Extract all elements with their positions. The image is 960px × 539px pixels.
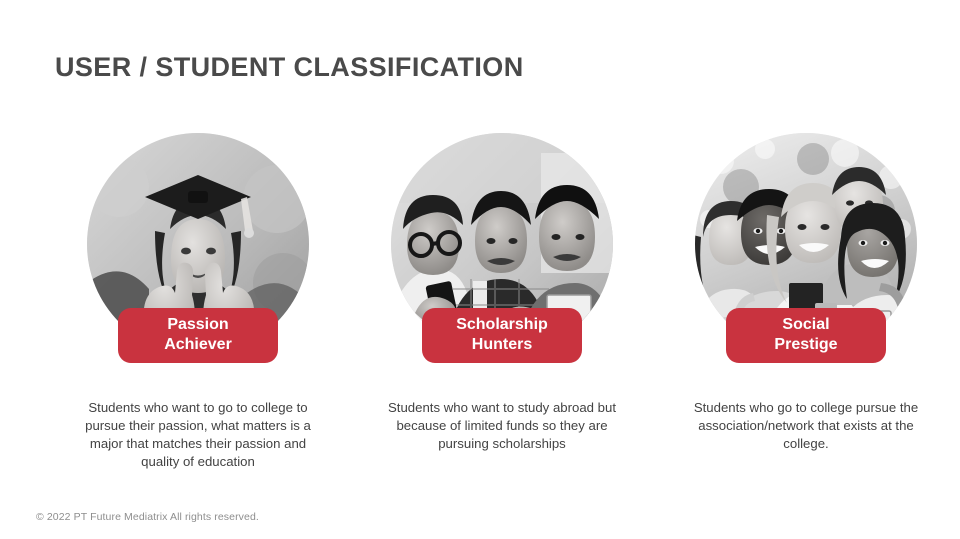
- card-description: Students who go to college pursue the as…: [691, 399, 921, 453]
- card-badge: Scholarship Hunters: [422, 308, 582, 363]
- slide-canvas: USER / STUDENT CLASSIFICATION: [0, 0, 960, 539]
- classification-card-passion-achiever: Passion Achiever Students who want to go…: [59, 133, 337, 471]
- page-title: USER / STUDENT CLASSIFICATION: [55, 52, 524, 83]
- card-badge: Passion Achiever: [118, 308, 278, 363]
- badge-line-1: Passion: [122, 315, 274, 335]
- card-description: Students who want to go to college to pu…: [83, 399, 313, 471]
- classification-card-social-prestige: Social Prestige Students who go to colle…: [667, 133, 945, 471]
- classification-card-scholarship-hunters: Scholarship Hunters Students who want to…: [363, 133, 641, 471]
- badge-line-2: Prestige: [730, 335, 882, 355]
- badge-line-1: Scholarship: [426, 315, 578, 335]
- photo-wrapper: Passion Achiever: [87, 133, 309, 355]
- badge-line-2: Hunters: [426, 335, 578, 355]
- copyright-footer: © 2022 PT Future Mediatrix All rights re…: [36, 511, 259, 523]
- photo-wrapper: Social Prestige: [695, 133, 917, 355]
- card-row: Passion Achiever Students who want to go…: [0, 133, 960, 471]
- badge-line-1: Social: [730, 315, 882, 335]
- badge-line-2: Achiever: [122, 335, 274, 355]
- card-description: Students who want to study abroad but be…: [387, 399, 617, 453]
- card-badge: Social Prestige: [726, 308, 886, 363]
- photo-wrapper: Scholarship Hunters: [391, 133, 613, 355]
